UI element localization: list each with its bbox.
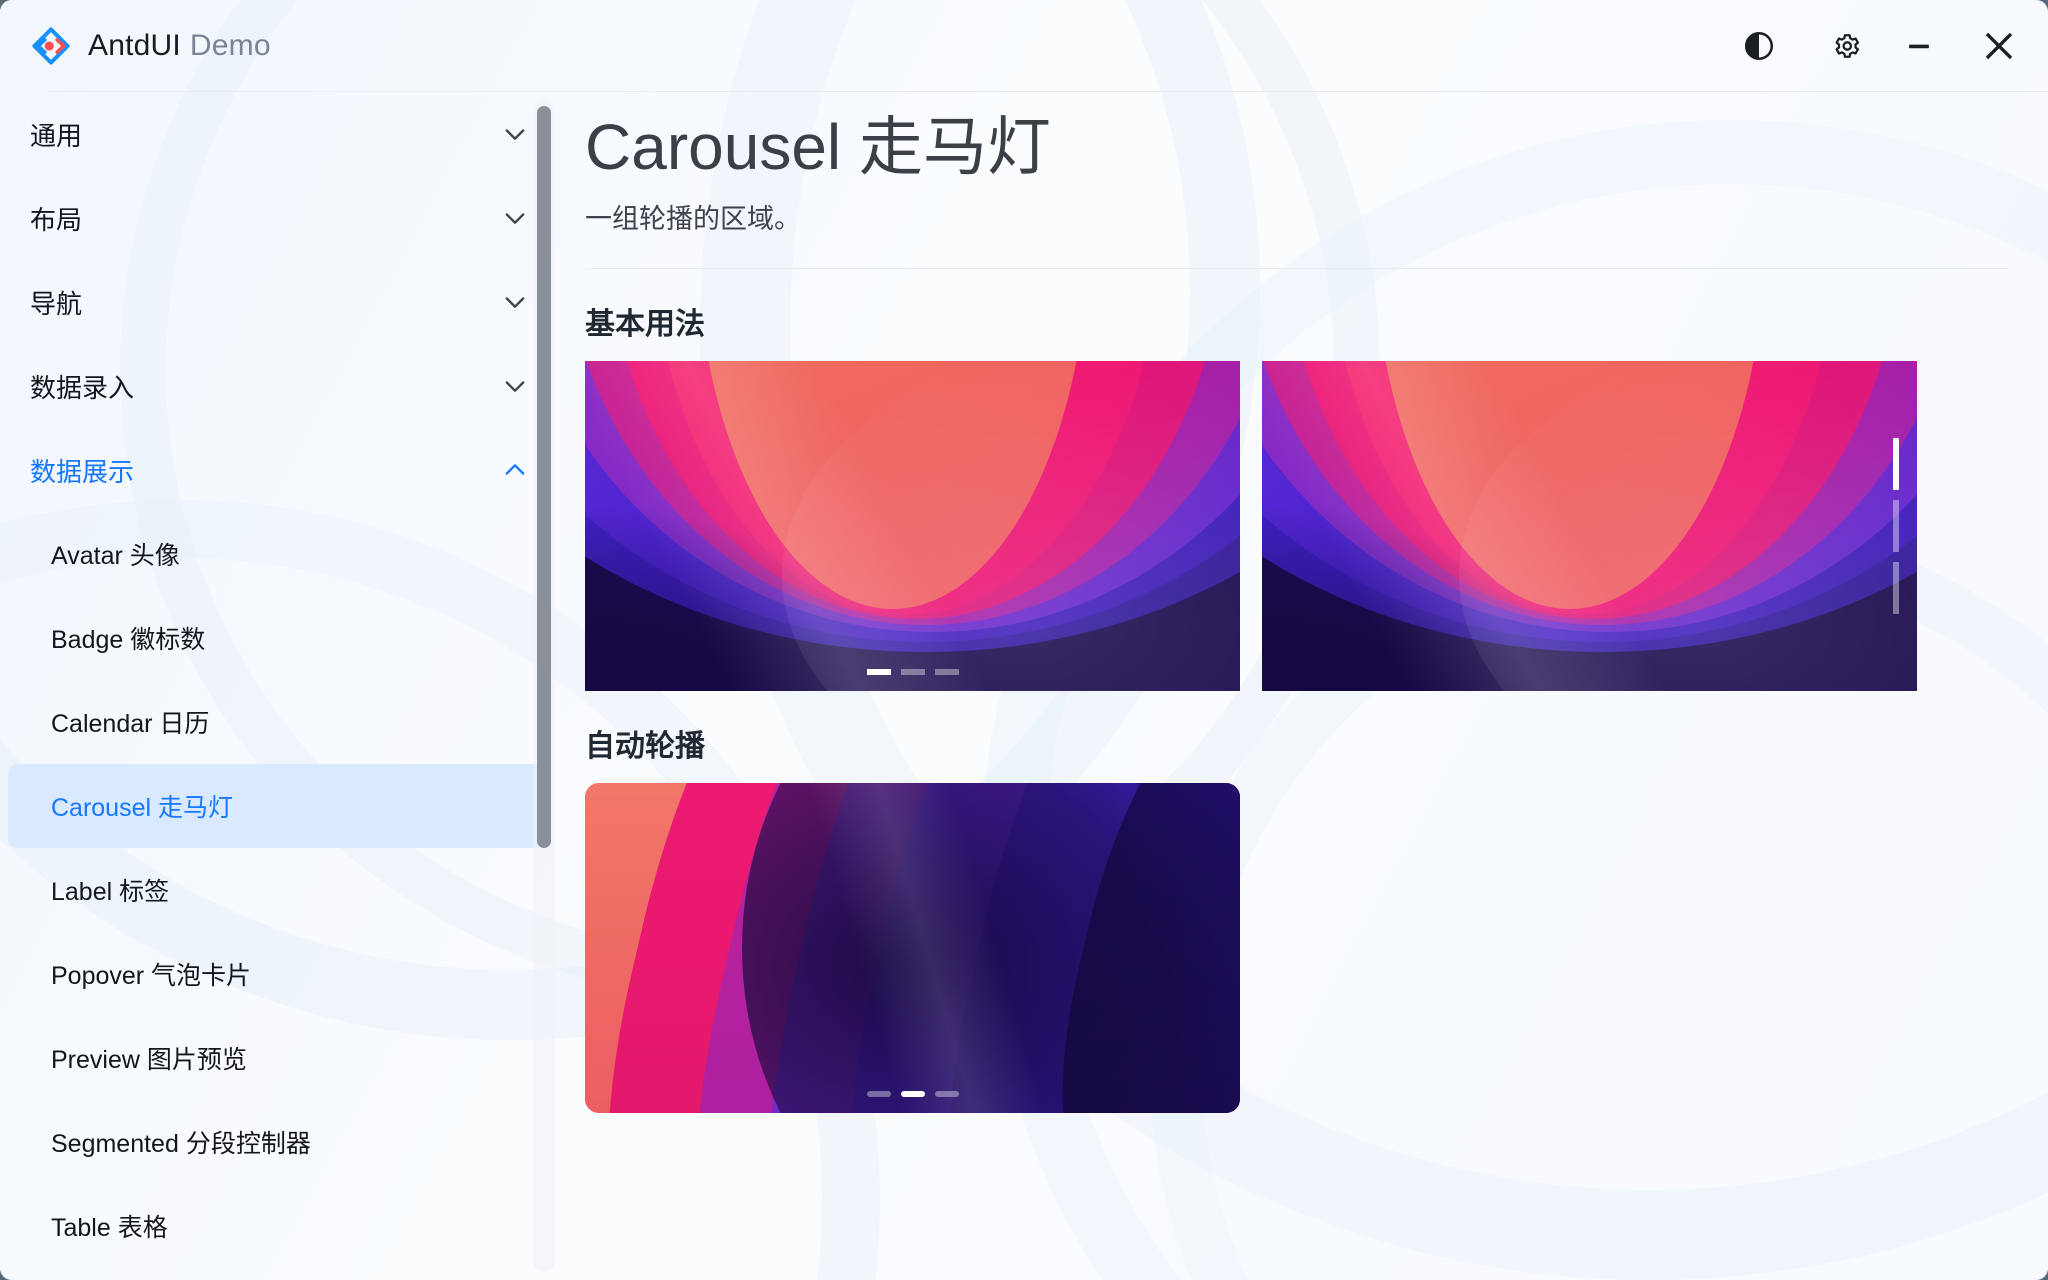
- sidebar-item-segmented[interactable]: Segmented 分段控制器: [8, 1100, 543, 1184]
- carousel-dot[interactable]: [935, 1091, 959, 1097]
- sidebar-group-general[interactable]: 通用: [0, 92, 565, 176]
- carousel-dot[interactable]: [867, 669, 891, 675]
- minimize-button[interactable]: [1882, 0, 1956, 92]
- sidebar-group-label: 数据录入: [30, 368, 134, 405]
- section-heading-autoplay: 自动轮播: [585, 721, 2008, 765]
- chevron-down-icon: [501, 288, 529, 316]
- main-layout: 通用 布局 导航: [0, 92, 2048, 1280]
- sidebar-group-layout[interactable]: 布局: [0, 176, 565, 260]
- sidebar-item-label: Badge 徽标数: [51, 620, 205, 656]
- page-description: 一组轮播的区域。: [585, 197, 2008, 236]
- demo-row-basic: [585, 361, 2008, 691]
- sidebar-item-label: Calendar 日历: [51, 704, 209, 740]
- sidebar-group-data-display[interactable]: 数据展示: [0, 428, 565, 512]
- contrast-half-circle-icon: [1742, 29, 1776, 63]
- chevron-down-icon: [501, 372, 529, 400]
- sidebar-item-label: Table 表格: [51, 1208, 168, 1244]
- minimize-icon: [1902, 29, 1936, 63]
- carousel-slide-image: [585, 783, 1240, 1113]
- sidebar-item-preview[interactable]: Preview 图片预览: [8, 1016, 543, 1100]
- carousel-dot[interactable]: [867, 1091, 891, 1097]
- sidebar-item-label: Label 标签: [51, 872, 169, 908]
- sidebar-item-label: Segmented 分段控制器: [51, 1124, 311, 1160]
- sidebar-item-label: Avatar 头像: [51, 536, 180, 572]
- antdui-diamond-logo-icon: [30, 25, 72, 67]
- carousel-dot[interactable]: [1893, 562, 1899, 614]
- app-title-main: AntdUI: [88, 29, 181, 62]
- sidebar-item-label: Preview 图片预览: [51, 1040, 247, 1076]
- app-window: AntdUIDemo: [0, 0, 2048, 1280]
- sidebar-item-avatar[interactable]: Avatar 头像: [8, 512, 543, 596]
- sidebar-item-badge[interactable]: Badge 徽标数: [8, 596, 543, 680]
- gear-icon: [1828, 29, 1862, 63]
- sidebar-item-carousel[interactable]: Carousel 走马灯: [8, 764, 543, 848]
- carousel-dot[interactable]: [1893, 500, 1899, 552]
- sidebar-group-label: 导航: [30, 284, 82, 321]
- sidebar-item-calendar[interactable]: Calendar 日历: [8, 680, 543, 764]
- sidebar-item-popover[interactable]: Popover 气泡卡片: [8, 932, 543, 1016]
- sidebar-scroll-area[interactable]: 通用 布局 导航: [0, 92, 565, 1280]
- carousel-indicator-vertical[interactable]: [1893, 361, 1899, 691]
- demo-row-autoplay: [585, 783, 2008, 1113]
- content-area: Carousel 走马灯 一组轮播的区域。 基本用法: [565, 92, 2048, 1280]
- app-title-sub: Demo: [190, 29, 271, 62]
- window-controls: [1722, 0, 2048, 92]
- sidebar-scrollbar-track[interactable]: [533, 100, 555, 1272]
- carousel-basic-vertical[interactable]: [1262, 361, 1917, 691]
- carousel-slide-image: [1262, 361, 1917, 691]
- sidebar-item-table[interactable]: Table 表格: [8, 1184, 543, 1268]
- title-bar: AntdUIDemo: [0, 0, 2048, 92]
- sidebar-navigation: 通用 布局 导航: [0, 92, 565, 1280]
- sidebar-scrollbar-thumb[interactable]: [537, 106, 551, 848]
- carousel-indicator-horizontal[interactable]: [585, 669, 1240, 675]
- settings-button[interactable]: [1808, 0, 1882, 92]
- carousel-dot[interactable]: [901, 669, 925, 675]
- app-brand: AntdUIDemo: [30, 25, 271, 67]
- app-title: AntdUIDemo: [88, 29, 271, 63]
- sidebar-group-navigation[interactable]: 导航: [0, 260, 565, 344]
- close-icon: [1979, 26, 2019, 66]
- section-heading-basic: 基本用法: [585, 299, 2008, 343]
- sidebar-item-label: Popover 气泡卡片: [51, 956, 251, 992]
- chevron-down-icon: [501, 204, 529, 232]
- sidebar-item-label[interactable]: Label 标签: [8, 848, 543, 932]
- theme-toggle-button[interactable]: [1722, 0, 1796, 92]
- carousel-basic-horizontal[interactable]: [585, 361, 1240, 691]
- carousel-slide-image: [585, 361, 1240, 691]
- carousel-autoplay[interactable]: [585, 783, 1240, 1113]
- carousel-dot[interactable]: [935, 669, 959, 675]
- sidebar-group-label: 通用: [30, 116, 82, 153]
- header-divider: [585, 268, 2008, 269]
- sidebar-group-data-entry[interactable]: 数据录入: [0, 344, 565, 428]
- carousel-indicator-horizontal[interactable]: [585, 1091, 1240, 1097]
- sidebar-item-label: Carousel 走马灯: [51, 788, 233, 824]
- page-title: Carousel 走马灯: [585, 114, 2008, 181]
- carousel-dot[interactable]: [901, 1091, 925, 1097]
- chevron-down-icon: [501, 120, 529, 148]
- carousel-dot[interactable]: [1893, 438, 1899, 490]
- sidebar-group-label: 数据展示: [30, 452, 134, 489]
- sidebar-group-label: 布局: [30, 200, 82, 237]
- chevron-up-icon: [501, 456, 529, 484]
- close-button[interactable]: [1956, 0, 2042, 92]
